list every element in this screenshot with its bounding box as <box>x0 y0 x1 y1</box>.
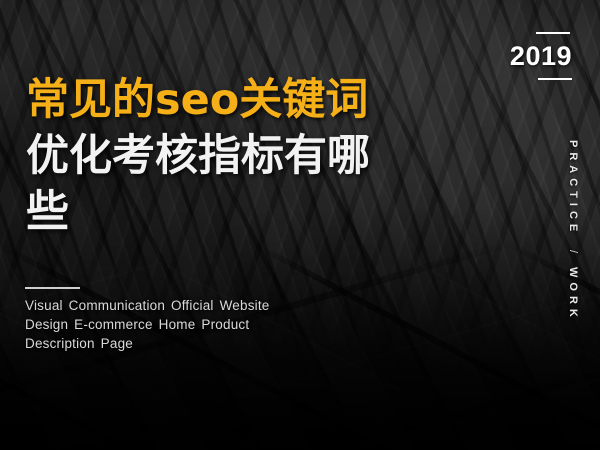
subtitle-divider <box>25 287 80 289</box>
headline-line-2: 优化考核指标有哪 <box>26 128 426 184</box>
year-badge: 2019 <box>490 32 572 80</box>
headline-line-3: 些 <box>26 184 426 240</box>
side-rail: PRACTICE / WORK <box>560 140 586 370</box>
side-rail-label-practice: PRACTICE <box>567 140 579 236</box>
poster-content: 常见的seo关键词 优化考核指标有哪 些 Visual Communicatio… <box>0 0 600 450</box>
year-rule-bottom <box>538 78 572 80</box>
subtitle-text: Visual Communication Official Website De… <box>25 296 275 353</box>
poster-canvas: 常见的seo关键词 优化考核指标有哪 些 Visual Communicatio… <box>0 0 600 450</box>
year-rule-top <box>536 32 570 34</box>
year-value: 2019 <box>490 41 572 71</box>
page-title: 常见的seo关键词 优化考核指标有哪 些 <box>26 72 426 240</box>
side-rail-label-work: WORK <box>567 267 579 322</box>
side-rail-separator: / <box>567 250 579 253</box>
headline-line-1: 常见的seo关键词 <box>26 72 426 128</box>
